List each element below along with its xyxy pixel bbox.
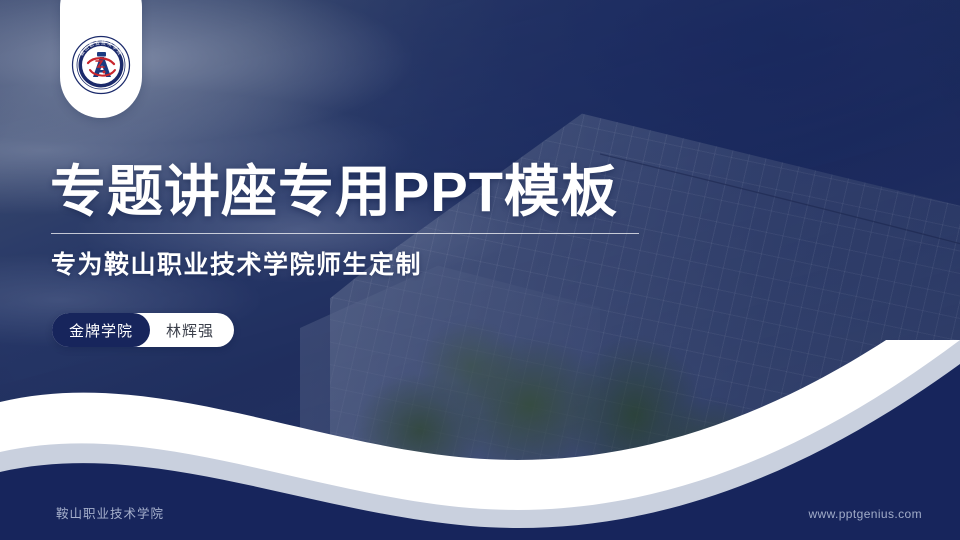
- page-title: 专题讲座专用PPT模板: [50, 162, 618, 222]
- page-subtitle: 专为鞍山职业技术学院师生定制: [51, 245, 422, 281]
- title-divider: [51, 233, 639, 234]
- footer-website[interactable]: www.pptgenius.com: [808, 507, 922, 521]
- badge-author-name[interactable]: 林辉强: [150, 313, 234, 347]
- badge-gold-college[interactable]: 金牌学院: [52, 313, 150, 347]
- footer-institution: 鞍山职业技术学院: [56, 503, 164, 522]
- university-seal-logo: 鞍山职业技术学院 ANSHAN VOCATIONAL AND TECHNICAL…: [71, 35, 131, 95]
- ppt-title-slide: 鞍山职业技术学院 ANSHAN VOCATIONAL AND TECHNICAL…: [0, 0, 960, 540]
- badge-group: 金牌学院 林辉强: [52, 313, 234, 347]
